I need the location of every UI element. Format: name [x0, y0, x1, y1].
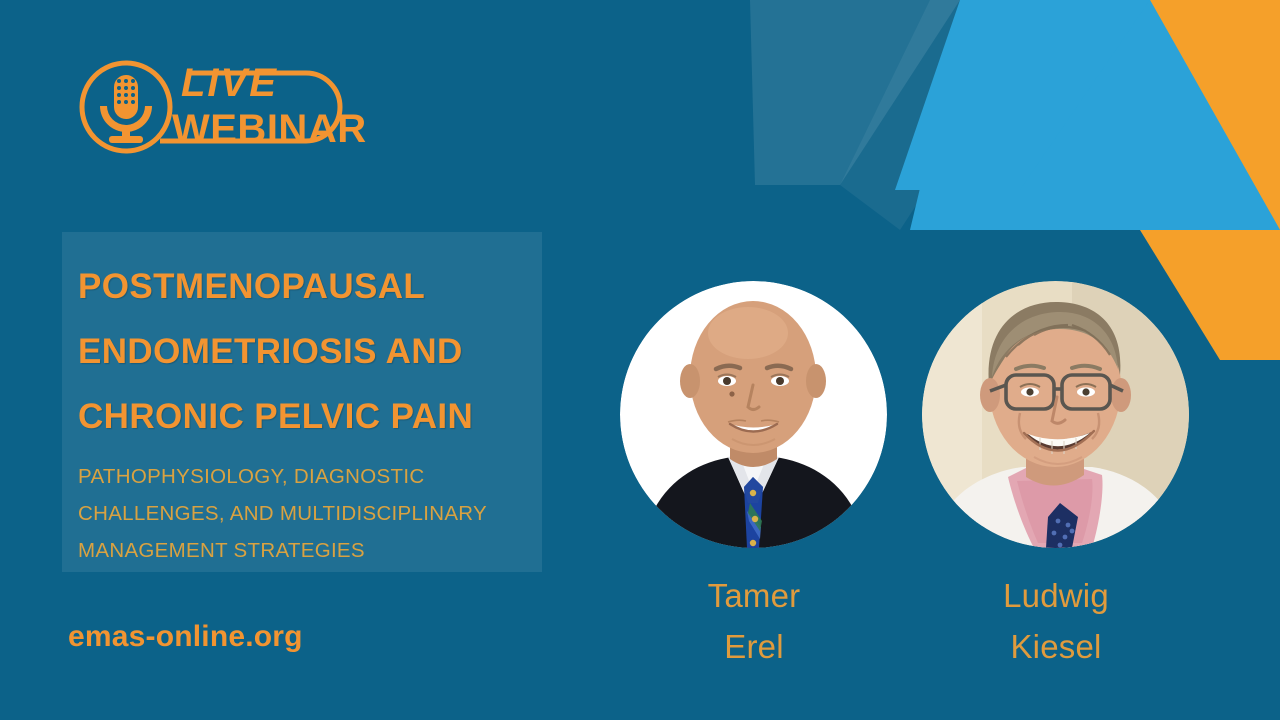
microphone-icon	[100, 75, 152, 143]
avatar-ludwig-kiesel	[922, 281, 1189, 548]
live-webinar-logo: LIVE WEBINAR	[68, 48, 358, 166]
speaker-last-name-2: Kiesel	[922, 621, 1190, 672]
avatar-tamer-erel	[620, 281, 887, 548]
title-line-2: ENDOMETRIOSIS AND	[78, 319, 542, 384]
speaker-last-name-1: Erel	[620, 621, 888, 672]
speaker-card-1: Tamer Erel	[620, 281, 888, 672]
logo-webinar-text: WEBINAR	[172, 107, 367, 151]
speakers-group: Tamer Erel	[600, 281, 1220, 681]
speaker-first-name-1: Tamer	[620, 570, 888, 621]
website-url[interactable]: emas-online.org	[68, 620, 303, 654]
title-line-3: CHRONIC PELVIC PAIN	[78, 384, 542, 449]
webinar-promo-slide: LIVE WEBINAR POSTMENOPAUSAL ENDOMETRIOSI…	[0, 0, 1280, 720]
speaker-first-name-2: Ludwig	[922, 570, 1190, 621]
speaker-card-2: Ludwig Kiesel	[922, 281, 1190, 672]
title-panel: POSTMENOPAUSAL ENDOMETRIOSIS AND CHRONIC…	[62, 232, 542, 572]
logo-live-text: LIVE	[181, 61, 278, 105]
title-line-1: POSTMENOPAUSAL	[78, 254, 542, 319]
subtitle-text: PATHOPHYSIOLOGY, DIAGNOSTIC CHALLENGES, …	[78, 458, 518, 569]
